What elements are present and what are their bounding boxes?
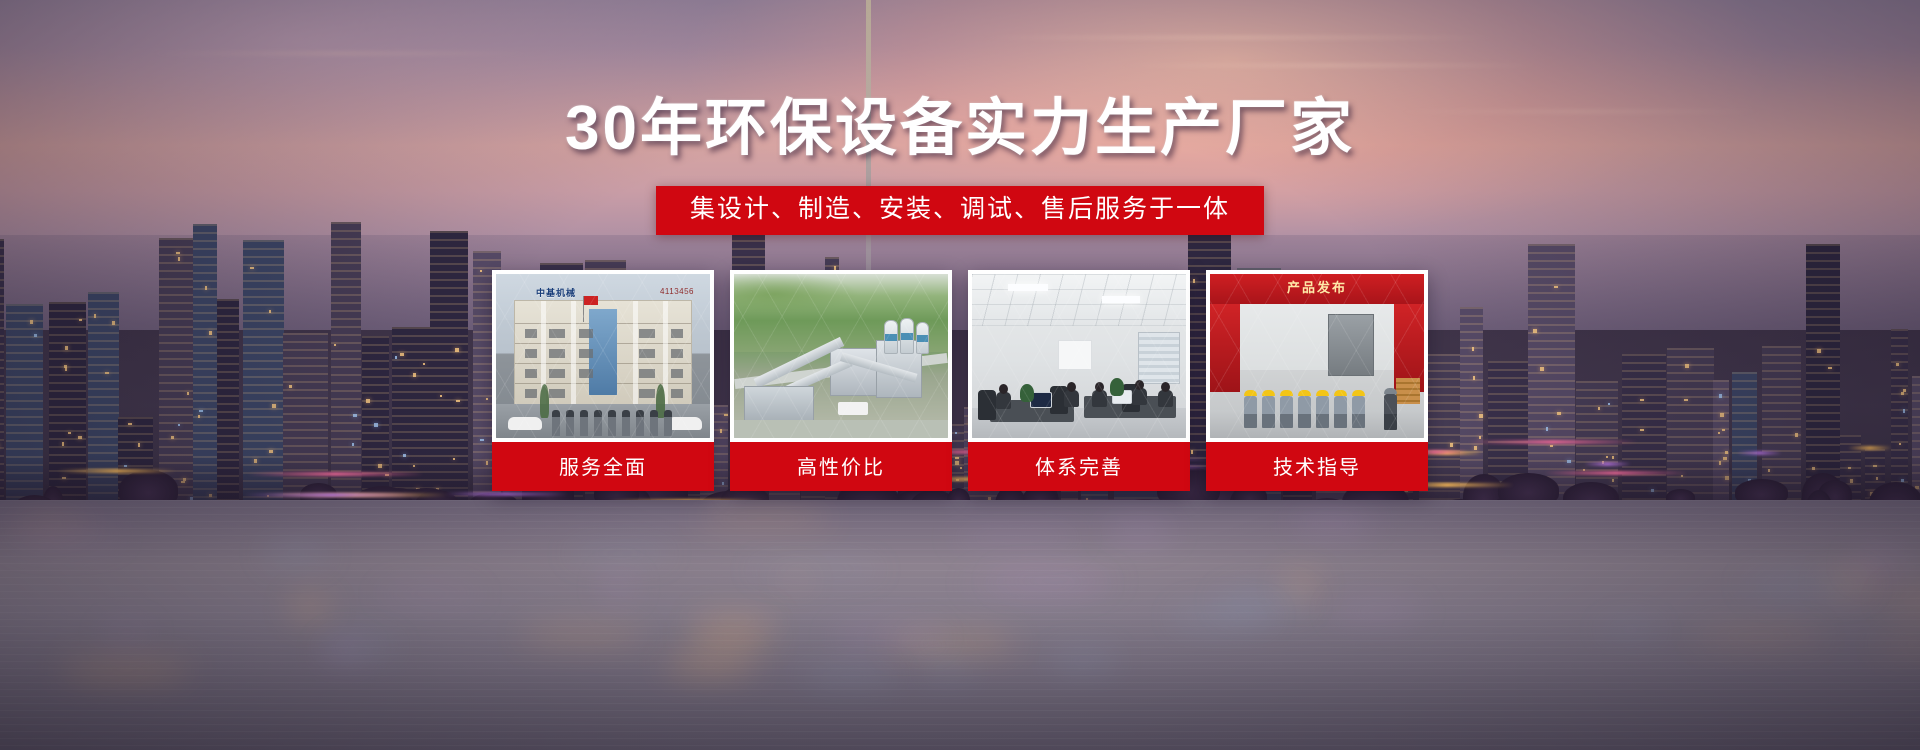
aerial-production-plant-photo [734,274,948,438]
feature-card-label: 体系完善 [968,442,1190,491]
workshop-workers-photo: 产品发布 [1210,274,1424,438]
feature-card-label: 服务全面 [492,442,714,491]
office-meeting-room-photo [972,274,1186,438]
feature-card[interactable]: 产品发布 技术指导 [1206,270,1428,491]
workshop-red-banner: 产品发布 [1210,274,1424,304]
feature-card-label: 高性价比 [730,442,952,491]
workshop-banner-text: 产品发布 [1287,277,1347,296]
hero-subtitle-banner: 集设计、制造、安装、调试、售后服务于一体 [656,186,1264,235]
hero-content: 30年环保设备实力生产厂家 集设计、制造、安装、调试、售后服务于一体 [0,0,1920,750]
feature-card-label: 技术指导 [1206,442,1428,491]
feature-card[interactable]: 高性价比 [730,270,952,491]
hero-banner: 30年环保设备实力生产厂家 集设计、制造、安装、调试、售后服务于一体 [0,0,1920,750]
hero-headline: 30年环保设备实力生产厂家 [565,98,1355,160]
feature-card[interactable]: 中基机械 4113456 [492,270,714,491]
feature-card[interactable]: 体系完善 [968,270,1190,491]
feature-card-list: 中基机械 4113456 [492,270,1428,491]
company-office-building-photo: 中基机械 4113456 [496,274,710,438]
building-sign-text: 中基机械 [536,286,576,299]
building-phone-text: 4113456 [660,287,694,296]
